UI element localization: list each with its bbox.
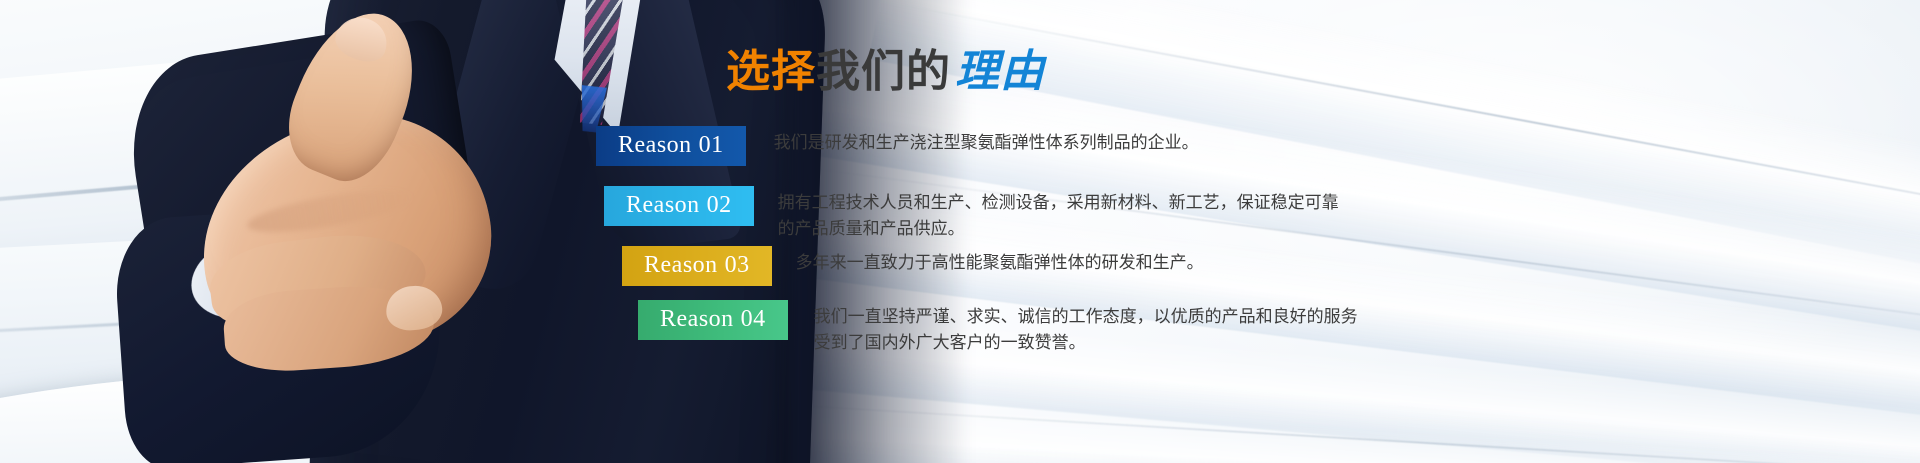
reason-item-02: Reason02 拥有工程技术人员和生产、检测设备，采用新材料、新工艺，保证稳定…	[604, 186, 1339, 243]
reason-badge-02[interactable]: Reason02	[604, 186, 754, 226]
reason-badge-number-04: 04	[734, 306, 766, 332]
reason-badge-number-02: 02	[700, 192, 732, 218]
page-title: 选择我们的理由	[726, 50, 1045, 94]
reason-item-03: Reason03 多年来一直致力于高性能聚氨酯弹性体的研发和生产。	[622, 246, 1204, 286]
headline-part-dark: 我们的	[816, 47, 951, 96]
reason-badge-number-03: 03	[718, 252, 750, 278]
reason-text-04: 我们一直坚持严谨、求实、诚信的工作态度，以优质的产品和良好的服务 受到了国内外广…	[814, 300, 1358, 357]
reason-badge-label-04: Reason	[660, 306, 734, 332]
reason-item-04: Reason04 我们一直坚持严谨、求实、诚信的工作态度，以优质的产品和良好的服…	[638, 300, 1358, 357]
headline-part-blue: 理由	[951, 47, 1045, 96]
reason-item-01: Reason01 我们是研发和生产浇注型聚氨酯弹性体系列制品的企业。	[596, 126, 1199, 166]
banner-content: 选择我们的理由 Reason01 我们是研发和生产浇注型聚氨酯弹性体系列制品的企…	[0, 0, 1920, 463]
reason-badge-label-02: Reason	[626, 192, 700, 218]
reason-text-02: 拥有工程技术人员和生产、检测设备，采用新材料、新工艺，保证稳定可靠 的产品质量和…	[778, 186, 1339, 243]
reason-text-03: 多年来一直致力于高性能聚氨酯弹性体的研发和生产。	[796, 246, 1204, 276]
headline-part-orange: 选择	[726, 47, 816, 96]
reason-badge-label-01: Reason	[618, 132, 692, 158]
reason-text-01: 我们是研发和生产浇注型聚氨酯弹性体系列制品的企业。	[774, 126, 1199, 156]
banner-stage: 选择我们的理由 Reason01 我们是研发和生产浇注型聚氨酯弹性体系列制品的企…	[0, 0, 1920, 463]
reason-badge-01[interactable]: Reason01	[596, 126, 746, 166]
reason-badge-03[interactable]: Reason03	[622, 246, 772, 286]
reason-badge-label-03: Reason	[644, 252, 718, 278]
reason-badge-04[interactable]: Reason04	[638, 300, 788, 340]
reason-badge-number-01: 01	[692, 132, 724, 158]
